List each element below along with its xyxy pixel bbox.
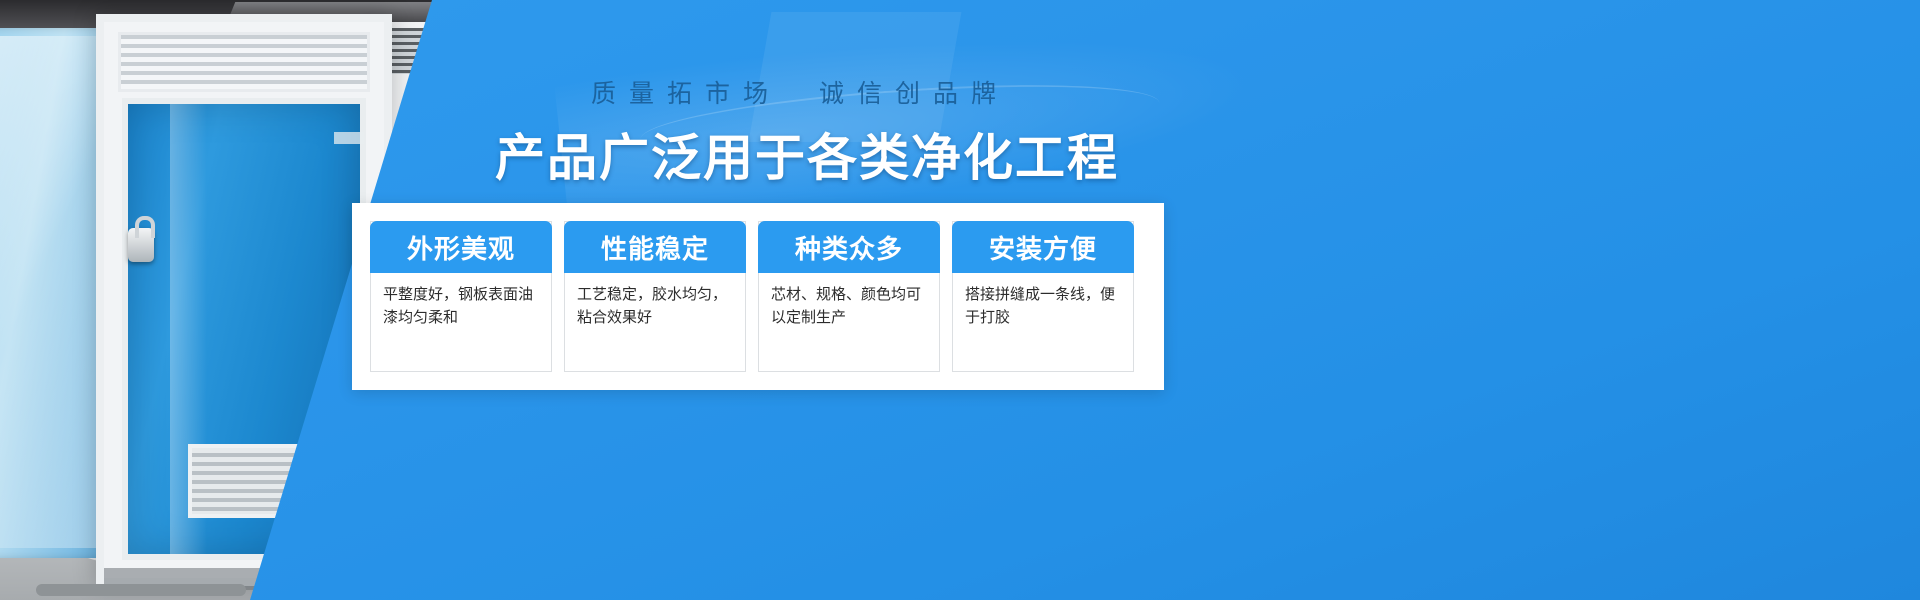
feature-card-text: 平整度好，钢板表面油漆均匀柔和 <box>371 273 551 371</box>
feature-card[interactable]: 安装方便 搭接拼缝成一条线，便于打胶 <box>952 221 1134 372</box>
feature-card-title: 安装方便 <box>952 221 1134 273</box>
banner-stage: 质量拓市场 诚信创品牌 产品广泛用于各类净化工程 外形美观 平整度好，钢板表面油… <box>0 0 1920 600</box>
feature-card-text: 搭接拼缝成一条线，便于打胶 <box>953 273 1133 371</box>
door-lock-icon <box>128 228 154 262</box>
floor-pipe <box>36 584 246 596</box>
feature-card[interactable]: 外形美观 平整度好，钢板表面油漆均匀柔和 <box>370 221 552 372</box>
cabin-top-vent <box>118 32 370 92</box>
cabin-label-plate <box>334 132 364 144</box>
feature-card-strip: 外形美观 平整度好，钢板表面油漆均匀柔和 性能稳定 工艺稳定，胶水均匀，粘合效果… <box>352 203 1164 390</box>
feature-card[interactable]: 种类众多 芯材、规格、颜色均可以定制生产 <box>758 221 940 372</box>
feature-card-text: 芯材、规格、颜色均可以定制生产 <box>759 273 939 371</box>
banner-tagline: 质量拓市场 诚信创品牌 <box>520 74 1080 110</box>
banner-headline: 产品广泛用于各类净化工程 <box>495 118 1095 190</box>
feature-card-title: 种类众多 <box>758 221 940 273</box>
feature-card-title: 外形美观 <box>370 221 552 273</box>
feature-card[interactable]: 性能稳定 工艺稳定，胶水均匀，粘合效果好 <box>564 221 746 372</box>
feature-card-title: 性能稳定 <box>564 221 746 273</box>
cabin-panel <box>0 36 100 548</box>
feature-card-text: 工艺稳定，胶水均匀，粘合效果好 <box>565 273 745 371</box>
